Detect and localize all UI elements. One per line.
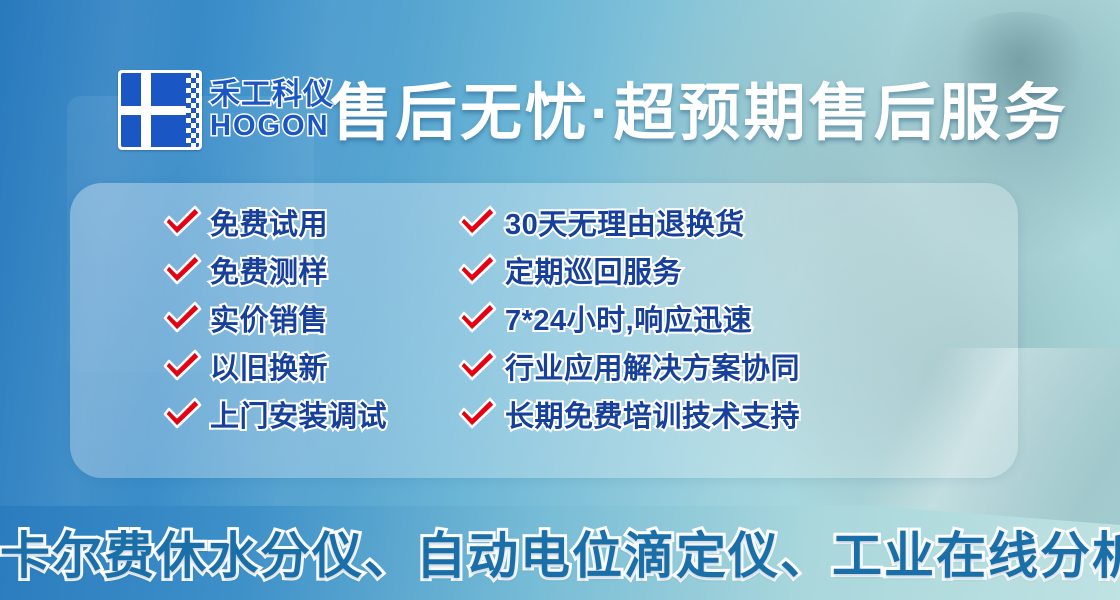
brand-wordmark: 禾工科仪 HOGON [210,80,334,141]
brand-logo: 禾工科仪 HOGON [118,70,334,150]
check-icon [455,397,499,431]
list-item: 免费试用 [160,205,455,239]
check-icon [455,253,499,287]
services-column-left: 免费试用 免费测样 实价销售 以旧换新 上门安装调试 [160,205,455,478]
services-column-right: 30天无理由退换货 定期巡回服务 7*24小时,响应迅速 行业应用解决方案协同 … [455,205,925,478]
check-icon [160,301,204,335]
list-item: 30天无理由退换货 [455,205,925,239]
product-tagline: 卡尔费休水分仪、自动电位滴定仪、工业在线分析仪 [0,516,1120,588]
check-icon [455,301,499,335]
list-item-label: 免费测样 [210,249,328,291]
banner-header: 禾工科仪 HOGON 售后无忧·超预期售后服务 [0,0,1120,183]
list-item-label: 7*24小时,响应迅速 [505,297,752,339]
list-item: 7*24小时,响应迅速 [455,301,925,335]
services-panel: 免费试用 免费测样 实价销售 以旧换新 上门安装调试 [70,183,1018,478]
list-item: 上门安装调试 [160,397,455,431]
check-icon [160,397,204,431]
logo-cross-horizontal [121,106,188,116]
hogon-flag-logo-icon [118,70,202,150]
check-icon [160,205,204,239]
check-icon [160,253,204,287]
list-item-label: 行业应用解决方案协同 [505,345,800,387]
list-item-label: 长期免费培训技术支持 [505,393,800,435]
list-item-label: 免费试用 [210,201,328,243]
check-icon [455,349,499,383]
promo-banner: 禾工科仪 HOGON 售后无忧·超预期售后服务 免费试用 免费测样 实价销售 [0,0,1120,600]
list-item-label: 上门安装调试 [210,393,387,435]
check-icon [455,205,499,239]
list-item: 免费测样 [160,253,455,287]
list-item-label: 定期巡回服务 [505,249,682,291]
list-item: 行业应用解决方案协同 [455,349,925,383]
brand-name-en: HOGON [210,112,334,141]
services-columns: 免费试用 免费测样 实价销售 以旧换新 上门安装调试 [70,183,1018,478]
list-item-label: 30天无理由退换货 [505,201,745,243]
list-item: 以旧换新 [160,349,455,383]
check-icon [160,349,204,383]
list-item-label: 以旧换新 [210,345,328,387]
logo-checker-strip [186,73,199,147]
page-title: 售后无忧·超预期售后服务 [330,62,1069,152]
logo-flag-field [121,73,199,147]
list-item: 定期巡回服务 [455,253,925,287]
list-item: 长期免费培训技术支持 [455,397,925,431]
brand-name-cn: 禾工科仪 [210,80,334,110]
list-item: 实价销售 [160,301,455,335]
list-item-label: 实价销售 [210,297,328,339]
